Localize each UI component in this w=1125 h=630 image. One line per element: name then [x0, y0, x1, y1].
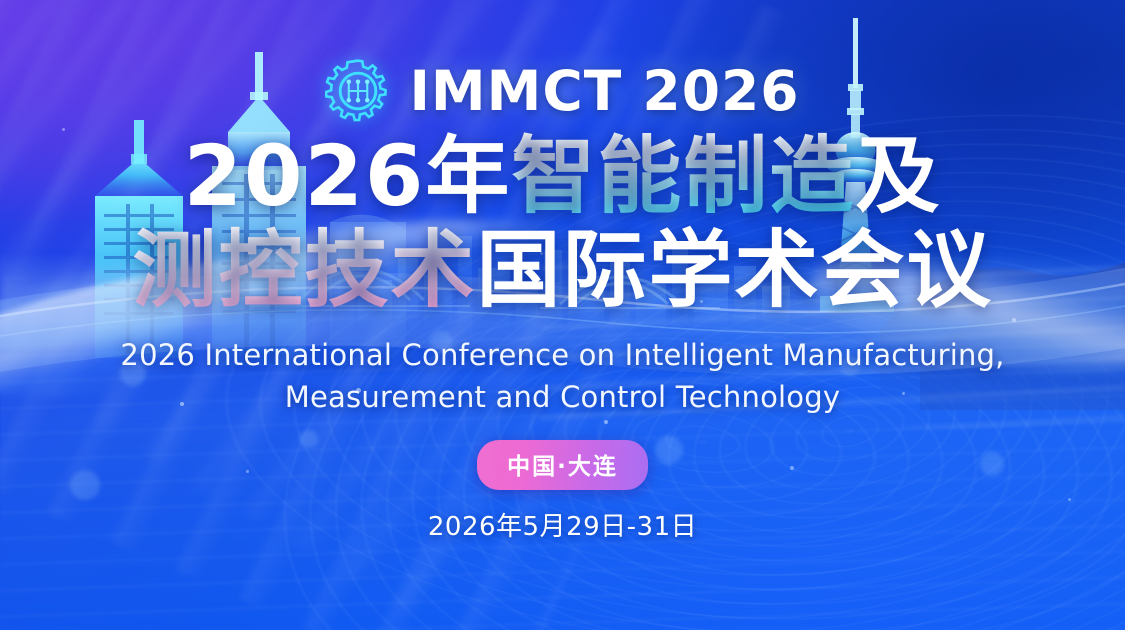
banner-content: IMMCT 2026 2026年智能制造及 测控技术国际学术会议 2026 In… [0, 0, 1125, 630]
brand-title: IMMCT 2026 [409, 59, 799, 123]
english-subtitle: 2026 International Conference on Intelli… [120, 335, 1004, 417]
conference-date: 2026年5月29日-31日 [428, 506, 697, 543]
english-subtitle-line-1: 2026 International Conference on Intelli… [120, 335, 1004, 376]
chinese-title-line-2: 测控技术国际学术会议 [132, 228, 992, 314]
conference-banner: IMMCT 2026 2026年智能制造及 测控技术国际学术会议 2026 In… [0, 0, 1125, 630]
gear-chip-icon [325, 58, 391, 124]
title-segment-smart-mfg: 智能制造 [511, 127, 855, 225]
chinese-title-line-1: 2026年智能制造及 [184, 134, 942, 220]
title-segment-conference: 国际学术会议 [477, 221, 993, 319]
title-segment-year: 2026年 [184, 127, 512, 225]
english-subtitle-line-2: Measurement and Control Technology [120, 377, 1004, 418]
title-segment-measure-control: 测控技术 [132, 221, 476, 319]
title-segment-and: 及 [855, 127, 941, 225]
brand-lockup: IMMCT 2026 [325, 58, 799, 124]
location-badge: 中国·大连 [477, 440, 648, 490]
